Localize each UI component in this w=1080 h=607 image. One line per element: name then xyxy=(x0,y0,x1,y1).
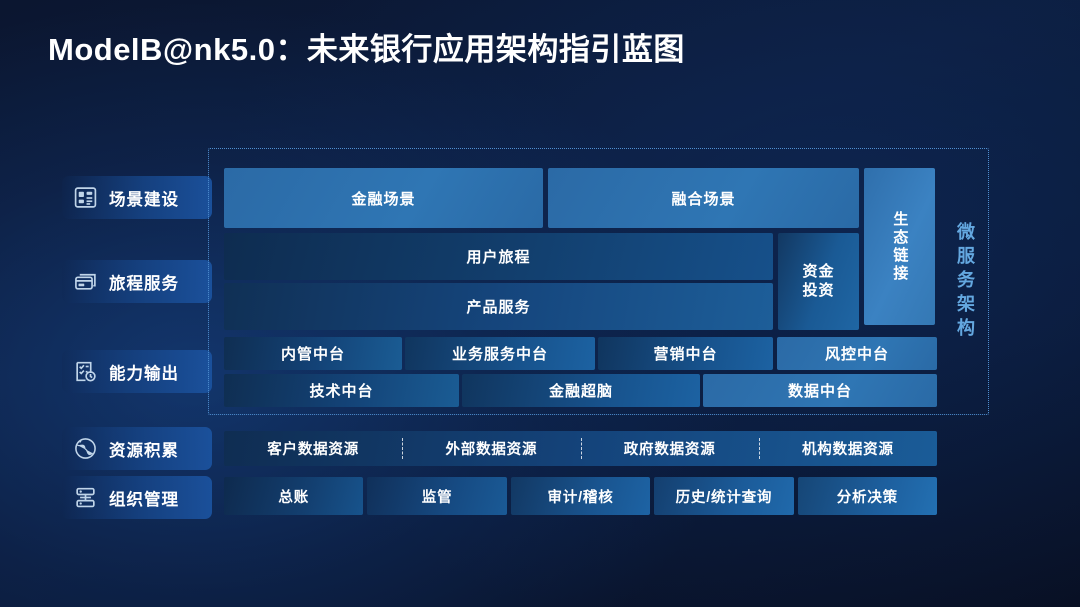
sidebar-item-label: 资源积累 xyxy=(109,437,179,461)
resource-row: 客户数据资源 外部数据资源 政府数据资源 机构数据资源 xyxy=(224,431,937,466)
block-funding-investment[interactable]: 资金 投资 xyxy=(778,233,859,330)
block-label: 生态链接 xyxy=(892,211,908,283)
block-label: 业务服务中台 xyxy=(452,343,548,364)
block-label: 产品服务 xyxy=(466,296,530,317)
block-financial-scene[interactable]: 金融场景 xyxy=(224,168,543,228)
card-stack-icon xyxy=(73,269,98,294)
sidebar-item-capability-output[interactable]: 能力输出 xyxy=(62,350,212,393)
resource-label: 机构数据资源 xyxy=(802,438,894,459)
block-ecosystem-link[interactable]: 生态链接 xyxy=(864,168,935,325)
org-hierarchy-icon xyxy=(73,485,98,510)
org-label: 总账 xyxy=(278,486,309,507)
block-label: 数据中台 xyxy=(788,380,852,401)
resource-cell-customer-data[interactable]: 客户数据资源 xyxy=(224,431,402,466)
org-cell-general-ledger[interactable]: 总账 xyxy=(224,477,363,515)
block-label: 营销中台 xyxy=(653,343,717,364)
org-cell-supervision[interactable]: 监管 xyxy=(367,477,506,515)
block-label-line1: 资金 xyxy=(802,263,834,282)
org-label: 监管 xyxy=(422,486,453,507)
sidebar-item-label: 场景建设 xyxy=(109,186,179,210)
block-business-service-platform[interactable]: 业务服务中台 xyxy=(405,337,595,370)
block-marketing-platform[interactable]: 营销中台 xyxy=(598,337,773,370)
resource-cell-institution-data[interactable]: 机构数据资源 xyxy=(759,431,937,466)
sidebar-item-resource-accumulation[interactable]: 资源积累 xyxy=(62,427,212,470)
org-label: 历史/统计查询 xyxy=(676,486,773,507)
block-user-journey[interactable]: 用户旅程 xyxy=(224,233,773,280)
block-label: 内管中台 xyxy=(281,343,345,364)
org-cell-audit-inspection[interactable]: 审计/稽核 xyxy=(511,477,650,515)
slide-canvas: ModelB@nk5.0：未来银行应用架构指引蓝图 场景建设 旅程服务 xyxy=(0,0,1080,607)
sidebar-item-label: 旅程服务 xyxy=(109,270,179,294)
microservice-architecture-label: 微服务架构 xyxy=(946,222,978,342)
org-label: 分析决策 xyxy=(837,486,898,507)
resource-cell-government-data[interactable]: 政府数据资源 xyxy=(581,431,759,466)
resource-label: 客户数据资源 xyxy=(267,438,359,459)
sidebar-item-organization-management[interactable]: 组织管理 xyxy=(62,476,212,519)
org-label: 审计/稽核 xyxy=(548,486,614,507)
org-cell-analysis-decision[interactable]: 分析决策 xyxy=(798,477,937,515)
block-label: 金融超脑 xyxy=(549,380,613,401)
block-label: 金融场景 xyxy=(351,188,415,209)
block-technology-platform[interactable]: 技术中台 xyxy=(224,374,459,407)
resource-label: 外部数据资源 xyxy=(445,438,537,459)
page-title: ModelB@nk5.0：未来银行应用架构指引蓝图 xyxy=(48,24,685,69)
block-data-platform[interactable]: 数据中台 xyxy=(703,374,937,407)
sidebar-item-label: 组织管理 xyxy=(109,486,179,510)
block-label-line2: 投资 xyxy=(802,282,834,301)
resource-cell-external-data[interactable]: 外部数据资源 xyxy=(402,431,580,466)
layout-grid-icon xyxy=(73,185,98,210)
block-label: 用户旅程 xyxy=(466,246,530,267)
resource-label: 政府数据资源 xyxy=(624,438,716,459)
org-cell-history-statistics-query[interactable]: 历史/统计查询 xyxy=(654,477,793,515)
block-internal-mgmt-platform[interactable]: 内管中台 xyxy=(224,337,402,370)
block-product-service[interactable]: 产品服务 xyxy=(224,283,773,330)
block-label: 风控中台 xyxy=(825,343,889,364)
block-integrated-scene[interactable]: 融合场景 xyxy=(548,168,859,228)
checklist-clock-icon xyxy=(73,359,98,384)
block-label: 融合场景 xyxy=(671,188,735,209)
sidebar-item-scene-building[interactable]: 场景建设 xyxy=(62,176,212,219)
block-financial-super-brain[interactable]: 金融超脑 xyxy=(462,374,700,407)
block-risk-control-platform[interactable]: 风控中台 xyxy=(777,337,937,370)
sidebar-item-journey-service[interactable]: 旅程服务 xyxy=(62,260,212,303)
sidebar-item-label: 能力输出 xyxy=(109,360,179,384)
block-label: 技术中台 xyxy=(309,380,373,401)
globe-icon xyxy=(73,436,98,461)
organization-row: 总账 监管 审计/稽核 历史/统计查询 分析决策 xyxy=(224,477,937,515)
